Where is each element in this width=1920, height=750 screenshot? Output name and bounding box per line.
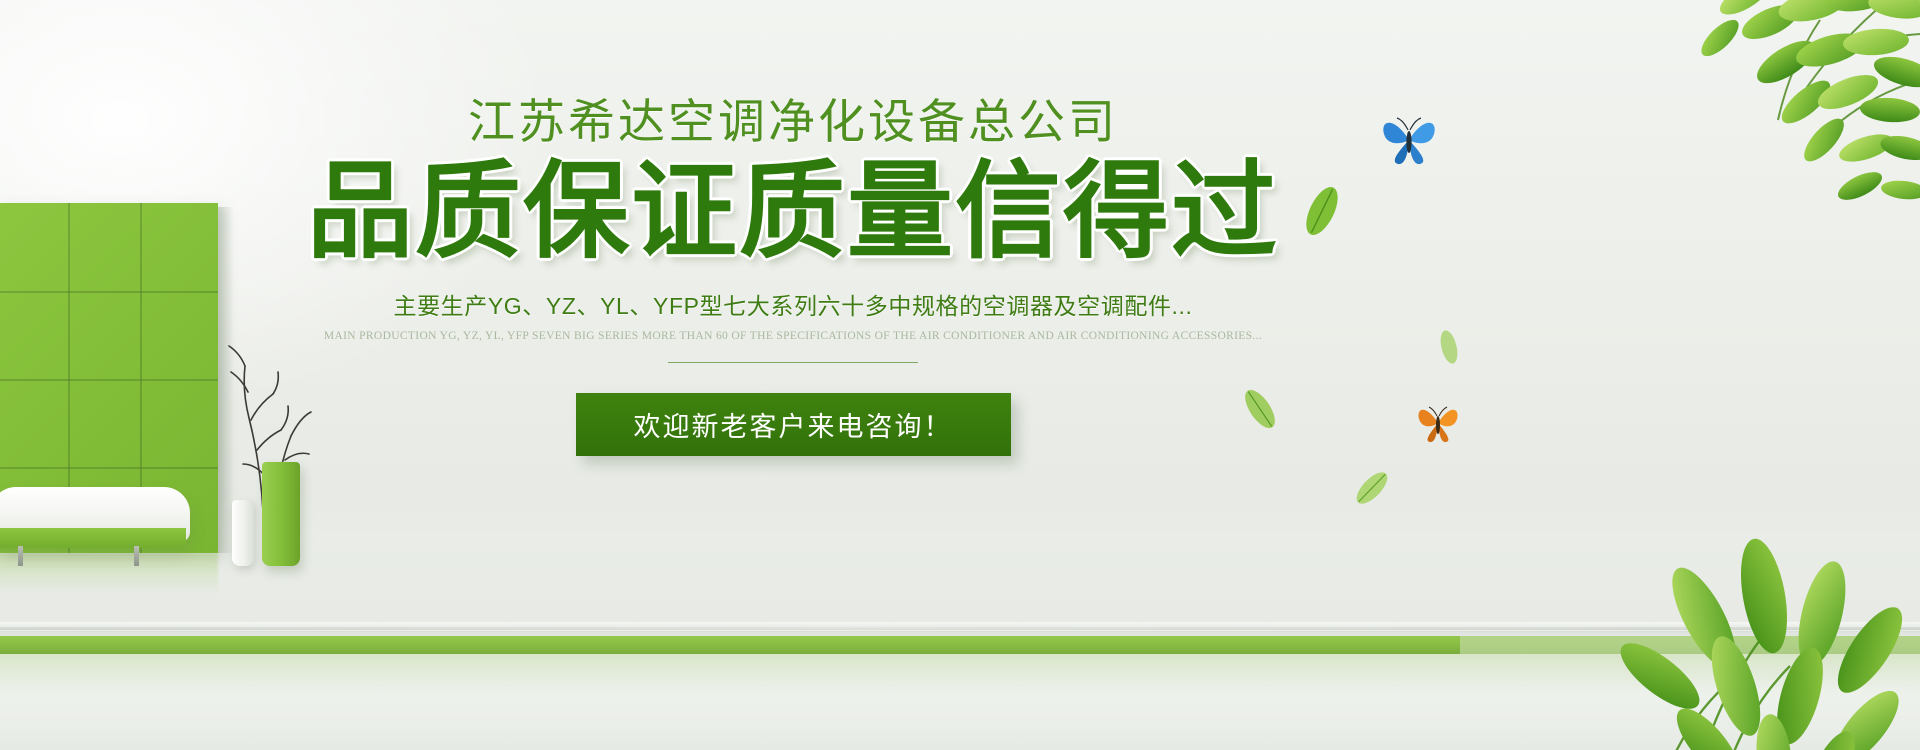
green-vase — [262, 462, 300, 566]
green-floor-strip — [0, 636, 1460, 654]
contact-cta-button[interactable]: 欢迎新老客户来电咨询！ — [576, 393, 1011, 456]
wall-panel-reflection — [0, 553, 218, 593]
bench-sofa-leg — [134, 546, 139, 566]
white-vase — [232, 500, 254, 566]
promotional-banner: 江苏希达空调净化设备总公司 品质保证质量信得过 主要生产YG、YZ、YL、YFP… — [0, 0, 1920, 750]
potted-plant-leaves-icon — [1360, 490, 1920, 750]
product-subtitle: 主要生产YG、YZ、YL、YFP型七大系列六十多中规格的空调器及空调配件... — [0, 287, 1586, 321]
bench-sofa-leg — [18, 546, 23, 566]
product-subtitle-english: MAIN PRODUCTION YG, YZ, YL, YFP SEVEN BI… — [0, 330, 1586, 342]
bench-sofa-base — [0, 528, 186, 548]
divider — [668, 362, 918, 363]
headline-slogan: 品质保证质量信得过 — [0, 153, 1586, 272]
banner-text-block: 江苏希达空调净化设备总公司 品质保证质量信得过 主要生产YG、YZ、YL、YFP… — [0, 96, 1586, 456]
company-name: 江苏希达空调净化设备总公司 — [0, 96, 1586, 149]
